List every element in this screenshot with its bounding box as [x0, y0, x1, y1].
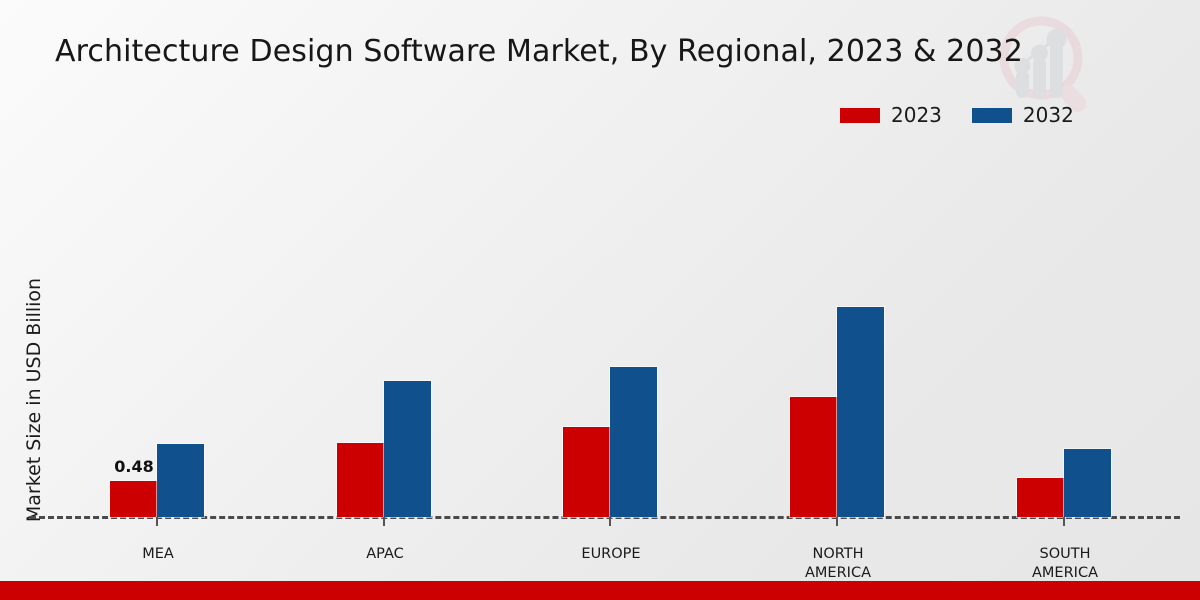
chart-canvas: Architecture Design Software Market, By … — [0, 0, 1200, 600]
tick-mea — [156, 517, 158, 526]
bar-apac-2032[interactable] — [384, 381, 431, 517]
category-label-europe: EUROPE — [511, 545, 711, 564]
footer-accent-bar — [0, 581, 1200, 600]
bar-south-america-2032[interactable] — [1064, 449, 1111, 517]
bar-europe-2023[interactable] — [563, 427, 610, 517]
category-label-north-america-line-1: NORTH — [738, 545, 938, 564]
category-label-north-america: NORTH AMERICA — [738, 545, 938, 583]
bar-north-america-2032[interactable] — [837, 307, 884, 517]
bar-apac-2023[interactable] — [337, 443, 384, 517]
bar-europe-2032[interactable] — [610, 367, 657, 517]
bar-group-apac: APAC — [337, 0, 432, 600]
bars-mea — [110, 444, 204, 517]
tick-north-america — [836, 517, 838, 526]
category-label-south-america-line-1: SOUTH — [965, 545, 1165, 564]
bars-europe — [563, 367, 657, 517]
category-label-south-america: SOUTH AMERICA — [965, 545, 1165, 583]
bar-group-mea: 0.48 MEA — [110, 0, 205, 600]
category-label-apac-line-1: APAC — [285, 545, 485, 564]
bar-mea-2023[interactable] — [110, 481, 157, 517]
bar-south-america-2023[interactable] — [1017, 478, 1064, 517]
bar-group-north-america: NORTH AMERICA — [790, 0, 885, 600]
bar-north-america-2023[interactable] — [790, 397, 837, 517]
bars-north-america — [790, 307, 884, 517]
tick-south-america — [1063, 517, 1065, 526]
bar-mea-2032[interactable] — [157, 444, 204, 517]
category-label-mea: MEA — [58, 545, 258, 564]
category-label-apac: APAC — [285, 545, 485, 564]
bar-group-europe: EUROPE — [563, 0, 658, 600]
plot-area: 0.48 MEA APAC — [0, 0, 1200, 600]
tick-europe — [609, 517, 611, 526]
bars-south-america — [1017, 449, 1111, 517]
category-label-mea-line-1: MEA — [58, 545, 258, 564]
bars-apac — [337, 381, 431, 517]
tick-apac — [383, 517, 385, 526]
category-label-europe-line-1: EUROPE — [511, 545, 711, 564]
bar-group-south-america: SOUTH AMERICA — [1017, 0, 1112, 600]
